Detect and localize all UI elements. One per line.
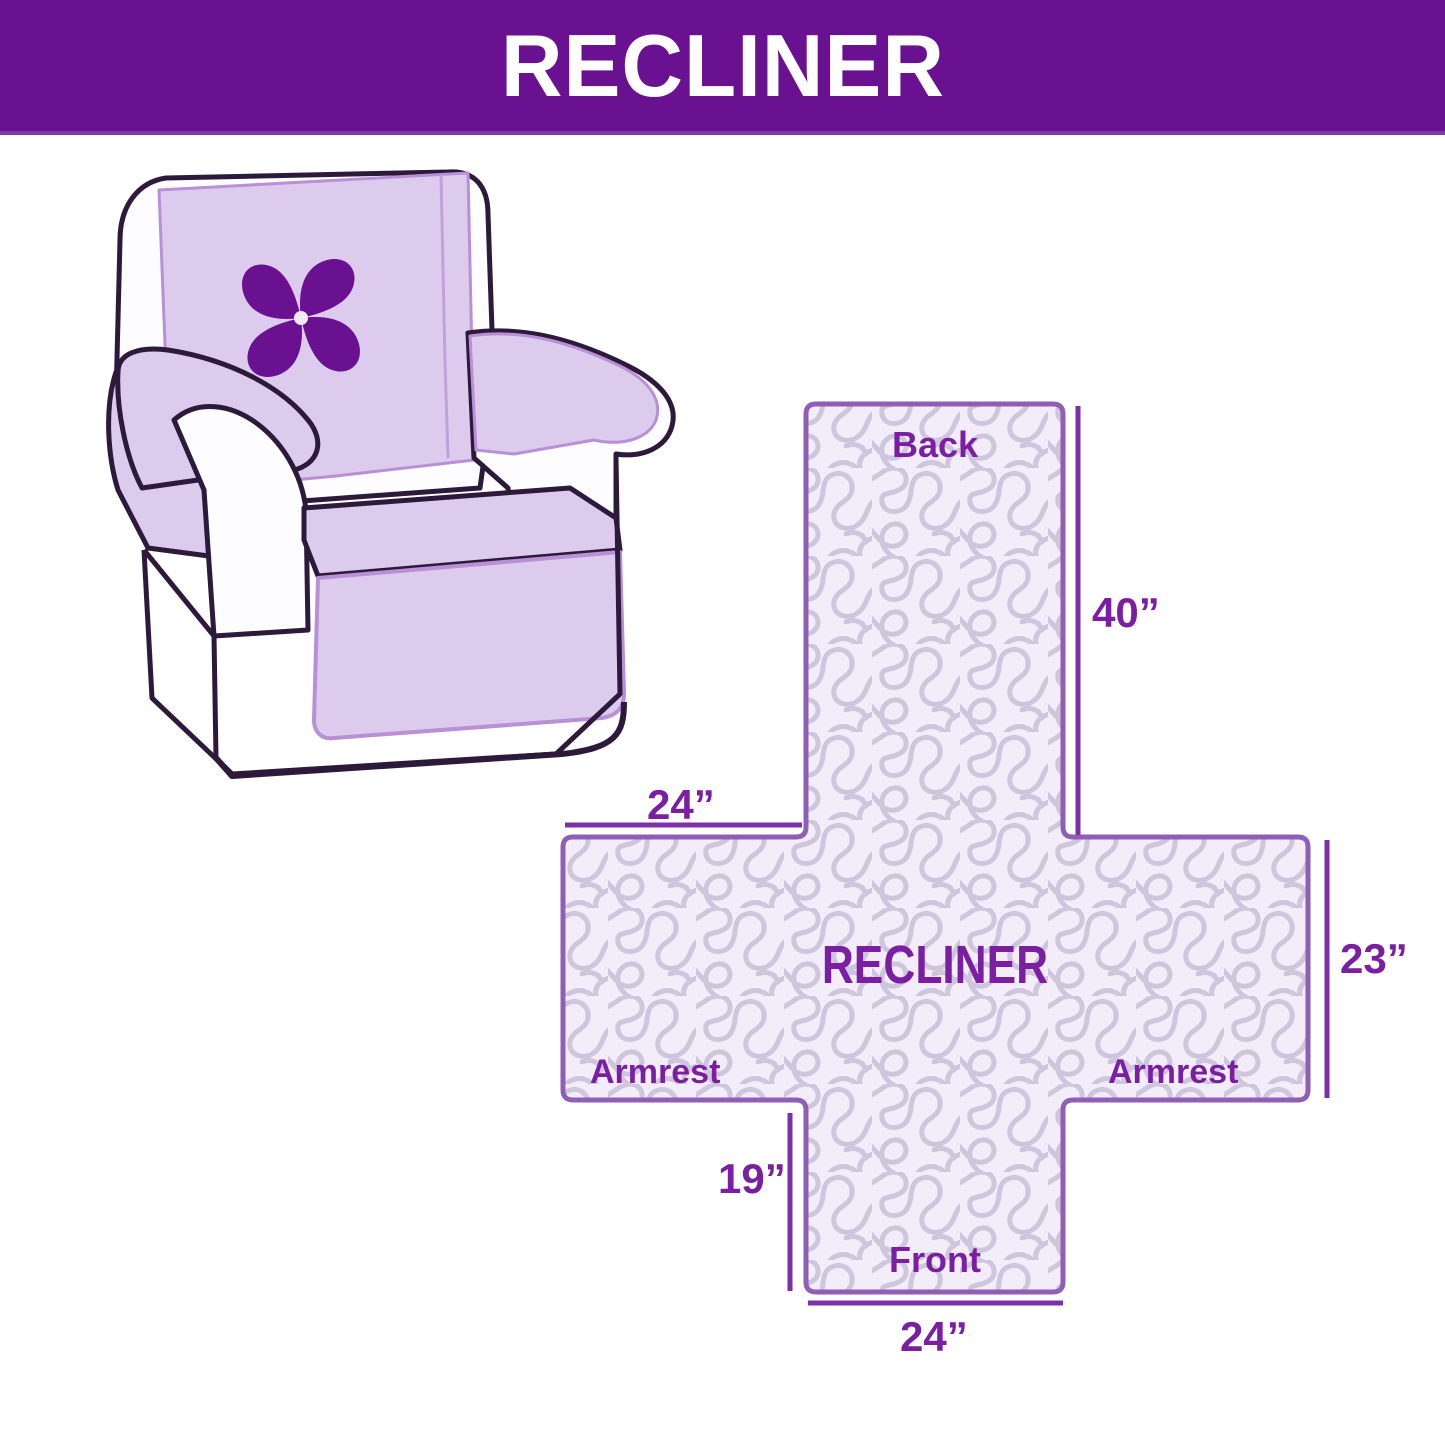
cover-svg — [520, 380, 1445, 1380]
size-guide-image: RECLINER — [0, 0, 1445, 1445]
page-title: RECLINER — [500, 22, 944, 110]
cover-flat-diagram — [520, 380, 1445, 1380]
header-underline-divider — [0, 131, 1445, 135]
header-banner: RECLINER — [0, 0, 1445, 131]
cover-cross-shape — [563, 404, 1308, 1292]
